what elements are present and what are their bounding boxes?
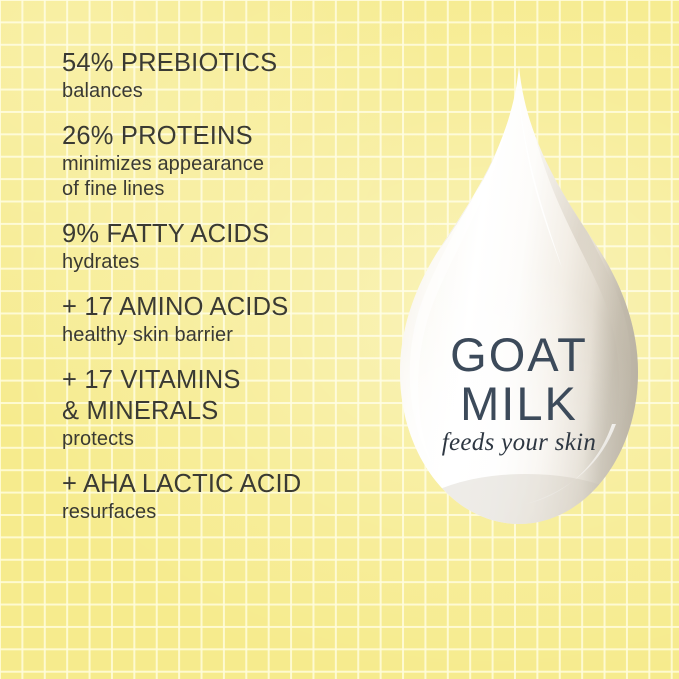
ingredient-list: 54% PREBIOTICS balances 26% PROTEINS min…: [62, 48, 392, 542]
ingredient-benefit: balances: [62, 79, 392, 104]
milk-droplet-icon: [376, 52, 662, 552]
ingredient-title: 54% PREBIOTICS: [62, 48, 392, 79]
ingredient-benefit: minimizes appearance of fine lines: [62, 152, 392, 202]
ingredient-item-aha-lactic-acid: + AHA LACTIC ACID resurfaces: [62, 469, 392, 525]
ingredient-title: + AHA LACTIC ACID: [62, 469, 392, 500]
ingredient-benefit: hydrates: [62, 250, 392, 275]
ingredient-title: + 17 AMINO ACIDS: [62, 292, 392, 323]
ingredient-item-amino-acids: + 17 AMINO ACIDS healthy skin barrier: [62, 292, 392, 348]
ingredient-item-fatty-acids: 9% FATTY ACIDS hydrates: [62, 219, 392, 275]
ingredient-title: 9% FATTY ACIDS: [62, 219, 392, 250]
ingredient-benefit: healthy skin barrier: [62, 323, 392, 348]
ingredient-item-proteins: 26% PROTEINS minimizes appearance of fin…: [62, 121, 392, 202]
product-infographic: 54% PREBIOTICS balances 26% PROTEINS min…: [0, 0, 679, 679]
ingredient-title: + 17 VITAMINS & MINERALS: [62, 365, 392, 427]
ingredient-title: 26% PROTEINS: [62, 121, 392, 152]
milk-droplet-graphic: [376, 52, 662, 552]
droplet-shading: [376, 52, 662, 552]
ingredient-item-prebiotics: 54% PREBIOTICS balances: [62, 48, 392, 104]
ingredient-benefit: resurfaces: [62, 500, 392, 525]
ingredient-item-vitamins-minerals: + 17 VITAMINS & MINERALS protects: [62, 365, 392, 452]
ingredient-benefit: protects: [62, 427, 392, 452]
